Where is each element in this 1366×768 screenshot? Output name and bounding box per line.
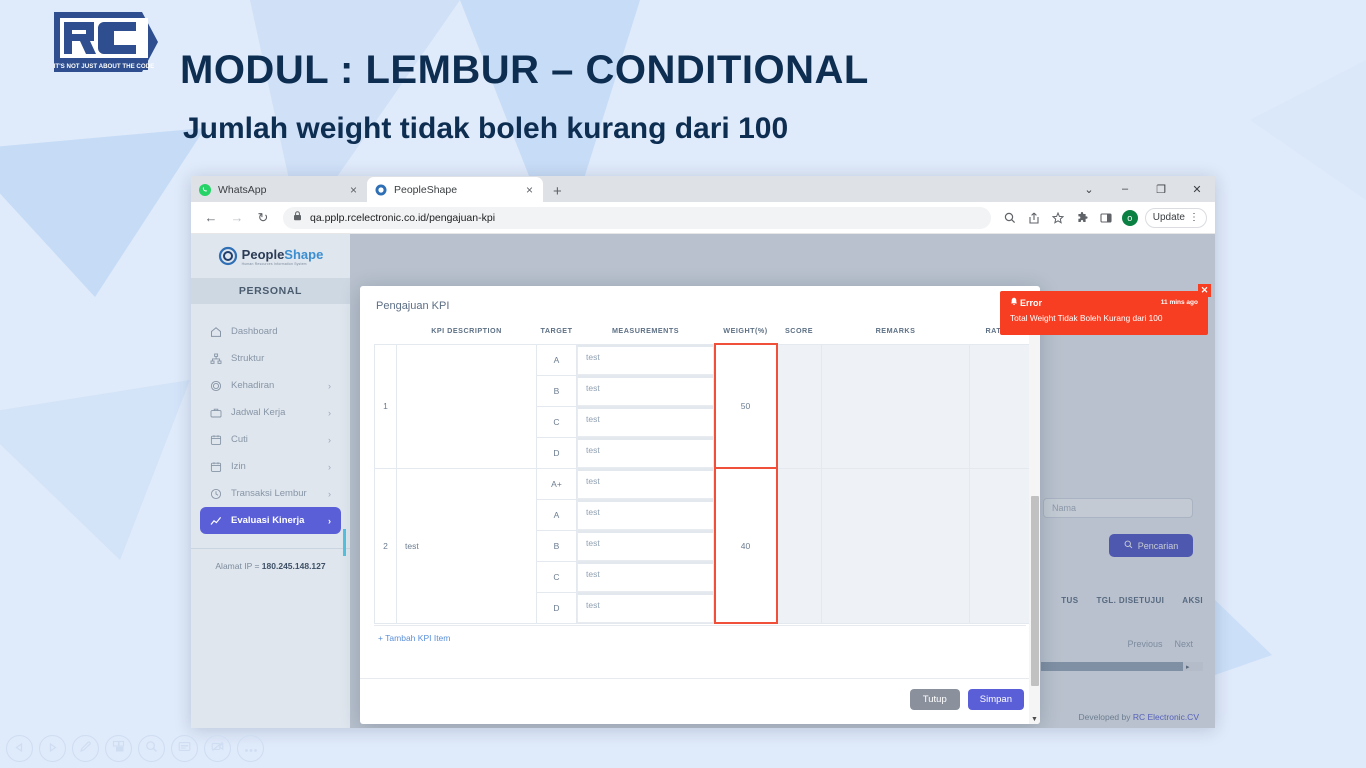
kpi-description-input[interactable] — [397, 344, 537, 468]
target-label: D — [537, 592, 577, 623]
toast-title-text: Error — [1020, 298, 1042, 308]
toast-timestamp: 11 mins ago — [1161, 299, 1198, 306]
peopleshape-icon — [375, 184, 387, 196]
search-icon — [1124, 540, 1133, 551]
close-icon[interactable]: × — [524, 184, 535, 196]
ip-address-info: Alamat IP = 180.245.148.127 — [191, 548, 350, 571]
measurement-input[interactable]: test — [577, 438, 714, 468]
ip-label: Alamat IP = — [215, 561, 259, 571]
sidebar-item-label: Dashboard — [231, 326, 331, 337]
score-cell[interactable] — [777, 344, 822, 468]
target-label: B — [537, 375, 577, 406]
measurement-cell[interactable]: test — [577, 499, 715, 530]
sidebar-item-label: Kehadiran — [231, 380, 319, 391]
modal-body: KPI DESCRIPTION TARGET MEASUREMENTS WEIG… — [360, 322, 1040, 678]
weight-input[interactable]: 40 — [715, 468, 777, 623]
close-icon[interactable]: × — [348, 184, 359, 196]
chevron-right-icon: › — [328, 381, 331, 391]
search-button-label: Pencarian — [1138, 541, 1179, 551]
triangle-right-icon — [47, 740, 58, 758]
toast-message: Total Weight Tidak Boleh Kurang dari 100 — [1010, 313, 1198, 323]
sidebar-item-transaksi-lembur[interactable]: Transaksi Lembur › — [200, 480, 341, 507]
previous-slide-button[interactable] — [6, 735, 33, 762]
puzzle-icon[interactable] — [1071, 207, 1093, 229]
chevron-right-icon: › — [328, 435, 331, 445]
score-cell[interactable] — [777, 468, 822, 623]
horizontal-scrollbar[interactable]: ▸ — [1041, 662, 1203, 671]
notes-button[interactable] — [171, 735, 198, 762]
rc-electronic-link[interactable]: RC Electronic.CV — [1133, 712, 1199, 722]
sidebar-item-cuti[interactable]: Cuti › — [200, 426, 341, 453]
row-number: 2 — [375, 468, 397, 623]
share-icon[interactable] — [1023, 207, 1045, 229]
slide-grid-button[interactable] — [105, 735, 132, 762]
column-header-weight: WEIGHT(%) — [715, 322, 777, 344]
search-input[interactable]: Nama — [1043, 498, 1193, 518]
tab-title: WhatsApp — [218, 184, 341, 196]
app-logo-tagline: Human Resources Information System — [242, 262, 324, 266]
column-header-target: TARGET — [537, 322, 577, 344]
target-label: A+ — [537, 468, 577, 499]
sidebar-section-personal: PERSONAL — [191, 278, 350, 304]
scrollbar-thumb[interactable] — [1031, 496, 1039, 686]
notes-icon — [178, 740, 191, 758]
kpi-table: KPI DESCRIPTION TARGET MEASUREMENTS WEIG… — [374, 322, 1032, 624]
toast-title: Error — [1010, 297, 1042, 308]
column-header-no — [375, 322, 397, 344]
sidebar-item-struktur[interactable]: Struktur — [200, 345, 341, 372]
tab-title: PeopleShape — [394, 184, 517, 196]
sidebar-item-label: Cuti — [231, 434, 319, 445]
target-label: B — [537, 530, 577, 561]
camera-off-button[interactable] — [204, 735, 231, 762]
table-row: 1 A test 50 — [375, 344, 1032, 375]
sidepanel-icon[interactable] — [1095, 207, 1117, 229]
rc-logo: IT'S NOT JUST ABOUT THE CODE — [50, 8, 162, 76]
reload-icon[interactable]: ↻ — [251, 206, 275, 230]
org-chart-icon — [210, 353, 222, 365]
home-icon — [210, 326, 222, 338]
minimize-icon[interactable]: – — [1107, 176, 1143, 202]
measurement-input[interactable]: test — [577, 407, 714, 437]
ellipsis-icon — [244, 740, 258, 758]
star-icon[interactable] — [1047, 207, 1069, 229]
fingerprint-icon — [210, 380, 222, 392]
app-logo-text: PeopleShape — [242, 247, 324, 262]
add-kpi-item-button[interactable]: + Tambah KPI Item — [374, 625, 1026, 643]
chevron-right-icon: › — [328, 489, 331, 499]
search-submit-button[interactable]: Pencarian — [1109, 534, 1193, 557]
error-toast: ✕ Error 11 mins ago Total Weight Tidak B… — [1000, 291, 1208, 335]
update-label: Update — [1153, 212, 1185, 223]
target-label: C — [537, 406, 577, 437]
sidebar-active-indicator — [343, 529, 346, 556]
rating-cell[interactable] — [970, 344, 1032, 468]
column-header-status: TUS — [1061, 596, 1078, 605]
search-icon[interactable] — [999, 207, 1021, 229]
kpi-table-body: 1 A test 50 B test — [375, 344, 1032, 623]
measurement-cell[interactable]: test — [577, 375, 715, 406]
modal-footer: Tutup Simpan — [360, 678, 1040, 724]
measurement-input[interactable]: test — [577, 593, 714, 623]
chevron-right-icon: › — [328, 462, 331, 472]
calendar-icon — [210, 461, 222, 473]
measurement-cell[interactable]: test — [577, 437, 715, 468]
toast-header: Error 11 mins ago — [1010, 297, 1198, 308]
measurement-cell[interactable]: test — [577, 592, 715, 623]
triangle-left-icon — [14, 740, 25, 758]
sidebar-item-jadwal-kerja[interactable]: Jadwal Kerja › — [200, 399, 341, 426]
column-header-aksi: AKSI — [1182, 596, 1203, 605]
next-page-button[interactable]: Next — [1174, 639, 1193, 649]
app-viewport: Nama Pencarian TUS TGL. DISETUJUI AKSI P… — [191, 234, 1215, 728]
maximize-icon[interactable]: ❐ — [1143, 176, 1179, 202]
window-controls: ⌄ – ❐ ✕ — [1071, 176, 1215, 202]
sidebar-item-izin[interactable]: Izin › — [200, 453, 341, 480]
page-title: MODUL : LEMBUR – CONDITIONAL — [180, 48, 869, 93]
footer-credit: Developed by RC Electronic.CV — [1079, 712, 1199, 722]
camera-off-icon — [211, 740, 224, 758]
chevron-right-icon: › — [328, 408, 331, 418]
sidebar-item-dashboard[interactable]: Dashboard — [200, 318, 341, 345]
clock-icon — [210, 488, 222, 500]
browser-toolbar: ← → ↻ qa.pplp.rcelectronic.co.id/pengaju… — [191, 202, 1215, 234]
measurement-input[interactable]: test — [577, 562, 714, 592]
measurement-cell[interactable]: test — [577, 344, 715, 375]
column-header-tgl-disetujui: TGL. DISETUJUI — [1096, 596, 1164, 605]
grid-icon — [112, 740, 125, 758]
measurement-input[interactable]: test — [577, 531, 714, 561]
back-icon[interactable]: ← — [199, 206, 223, 230]
measurement-input[interactable]: test — [577, 469, 714, 499]
ip-value: 180.245.148.127 — [262, 561, 326, 571]
target-label: A — [537, 499, 577, 530]
zoom-button[interactable] — [138, 735, 165, 762]
measurement-input[interactable]: test — [577, 376, 714, 406]
measurement-cell[interactable]: test — [577, 530, 715, 561]
bell-icon — [1010, 297, 1018, 308]
sidebar-menu: Dashboard Struktur Kehadiran › Jadwal Ke… — [191, 304, 350, 534]
target-label: C — [537, 561, 577, 592]
browser-tab-whatsapp[interactable]: WhatsApp × — [191, 177, 367, 202]
sidebar-item-label: Transaksi Lembur — [231, 488, 319, 499]
lock-icon — [293, 211, 302, 224]
weight-input[interactable]: 50 — [715, 344, 777, 468]
whatsapp-icon — [199, 184, 211, 196]
browser-window: WhatsApp × PeopleShape × + ⌄ – ❐ ✕ ← → ↻ — [191, 176, 1215, 728]
modal-vertical-scrollbar[interactable]: ▲ ▼ — [1029, 328, 1040, 724]
sidebar-item-evaluasi-kinerja[interactable]: Evaluasi Kinerja › — [200, 507, 341, 534]
sidebar-item-label: Jadwal Kerja — [231, 407, 319, 418]
page-subtitle: Jumlah weight tidak boleh kurang dari 10… — [183, 112, 788, 146]
browser-tab-peopleshape[interactable]: PeopleShape × — [367, 177, 543, 202]
more-options-button[interactable] — [237, 735, 264, 762]
remarks-cell[interactable] — [822, 468, 970, 623]
browser-menu-icon[interactable]: ⋮ — [1189, 212, 1199, 223]
url-text: qa.pplp.rcelectronic.co.id/pengajuan-kpi — [310, 212, 495, 224]
column-header-kpi-description: KPI DESCRIPTION — [397, 322, 537, 344]
target-label: D — [537, 437, 577, 468]
chevron-right-icon: › — [328, 516, 331, 526]
app-logo: PeopleShape Human Resources Information … — [191, 234, 350, 278]
rating-cell[interactable] — [970, 468, 1032, 623]
sidebar: PeopleShape Human Resources Information … — [191, 234, 350, 728]
behind-table-headers: TUS TGL. DISETUJUI AKSI — [1061, 596, 1203, 605]
profile-avatar[interactable]: o — [1122, 210, 1138, 226]
browser-tabstrip: WhatsApp × PeopleShape × + ⌄ – ❐ ✕ — [191, 176, 1215, 202]
pen-icon — [79, 740, 92, 758]
column-header-score: SCORE — [777, 322, 822, 344]
sidebar-item-kehadiran[interactable]: Kehadiran › — [200, 372, 341, 399]
measurement-cell[interactable]: test — [577, 561, 715, 592]
pen-tool-button[interactable] — [72, 735, 99, 762]
chart-line-icon — [210, 515, 222, 527]
pagination: Previous Next — [1127, 639, 1193, 649]
close-window-icon[interactable]: ✕ — [1179, 176, 1215, 202]
column-header-remarks: REMARKS — [822, 322, 970, 344]
calendar-icon — [210, 434, 222, 446]
forward-icon[interactable]: → — [225, 206, 249, 230]
address-bar[interactable]: qa.pplp.rcelectronic.co.id/pengajuan-kpi — [283, 207, 991, 229]
sidebar-item-label: Izin — [231, 461, 319, 472]
row-number: 1 — [375, 344, 397, 468]
pengajuan-kpi-modal: Pengajuan KPI KPI DESCRIPTION TARGET MEA… — [360, 286, 1040, 724]
table-row: 2 test A+ test 40 — [375, 468, 1032, 499]
measurement-cell[interactable]: test — [577, 406, 715, 437]
magnifier-icon — [145, 740, 158, 758]
kpi-description-input[interactable]: test — [397, 468, 537, 623]
new-tab-button[interactable]: + — [553, 183, 562, 202]
sidebar-item-label: Evaluasi Kinerja — [231, 515, 319, 526]
column-header-measurements: MEASUREMENTS — [577, 322, 715, 344]
kpi-table-header-row: KPI DESCRIPTION TARGET MEASUREMENTS WEIG… — [375, 322, 1032, 344]
footer-credit-prefix: Developed by — [1079, 712, 1133, 722]
measurement-cell[interactable]: test — [577, 468, 715, 499]
remarks-cell[interactable] — [822, 344, 970, 468]
scroll-down-icon[interactable]: ▼ — [1031, 715, 1038, 724]
close-button[interactable]: Tutup — [910, 689, 960, 710]
measurement-input[interactable]: test — [577, 500, 714, 530]
save-button[interactable]: Simpan — [968, 689, 1024, 710]
presentation-toolbar — [6, 735, 264, 762]
sidebar-item-label: Struktur — [231, 353, 331, 364]
peopleshape-logo-icon — [218, 246, 238, 266]
next-slide-button[interactable] — [39, 735, 66, 762]
target-label: A — [537, 344, 577, 375]
modal-title: Pengajuan KPI — [360, 286, 1040, 322]
close-icon[interactable]: ✕ — [1198, 284, 1211, 297]
previous-page-button[interactable]: Previous — [1127, 639, 1162, 649]
minimize-group-icon[interactable]: ⌄ — [1071, 176, 1107, 202]
measurement-input[interactable]: test — [577, 345, 714, 375]
logo-tagline: IT'S NOT JUST ABOUT THE CODE — [54, 63, 155, 70]
briefcase-icon — [210, 407, 222, 419]
update-button[interactable]: Update ⋮ — [1145, 208, 1207, 228]
